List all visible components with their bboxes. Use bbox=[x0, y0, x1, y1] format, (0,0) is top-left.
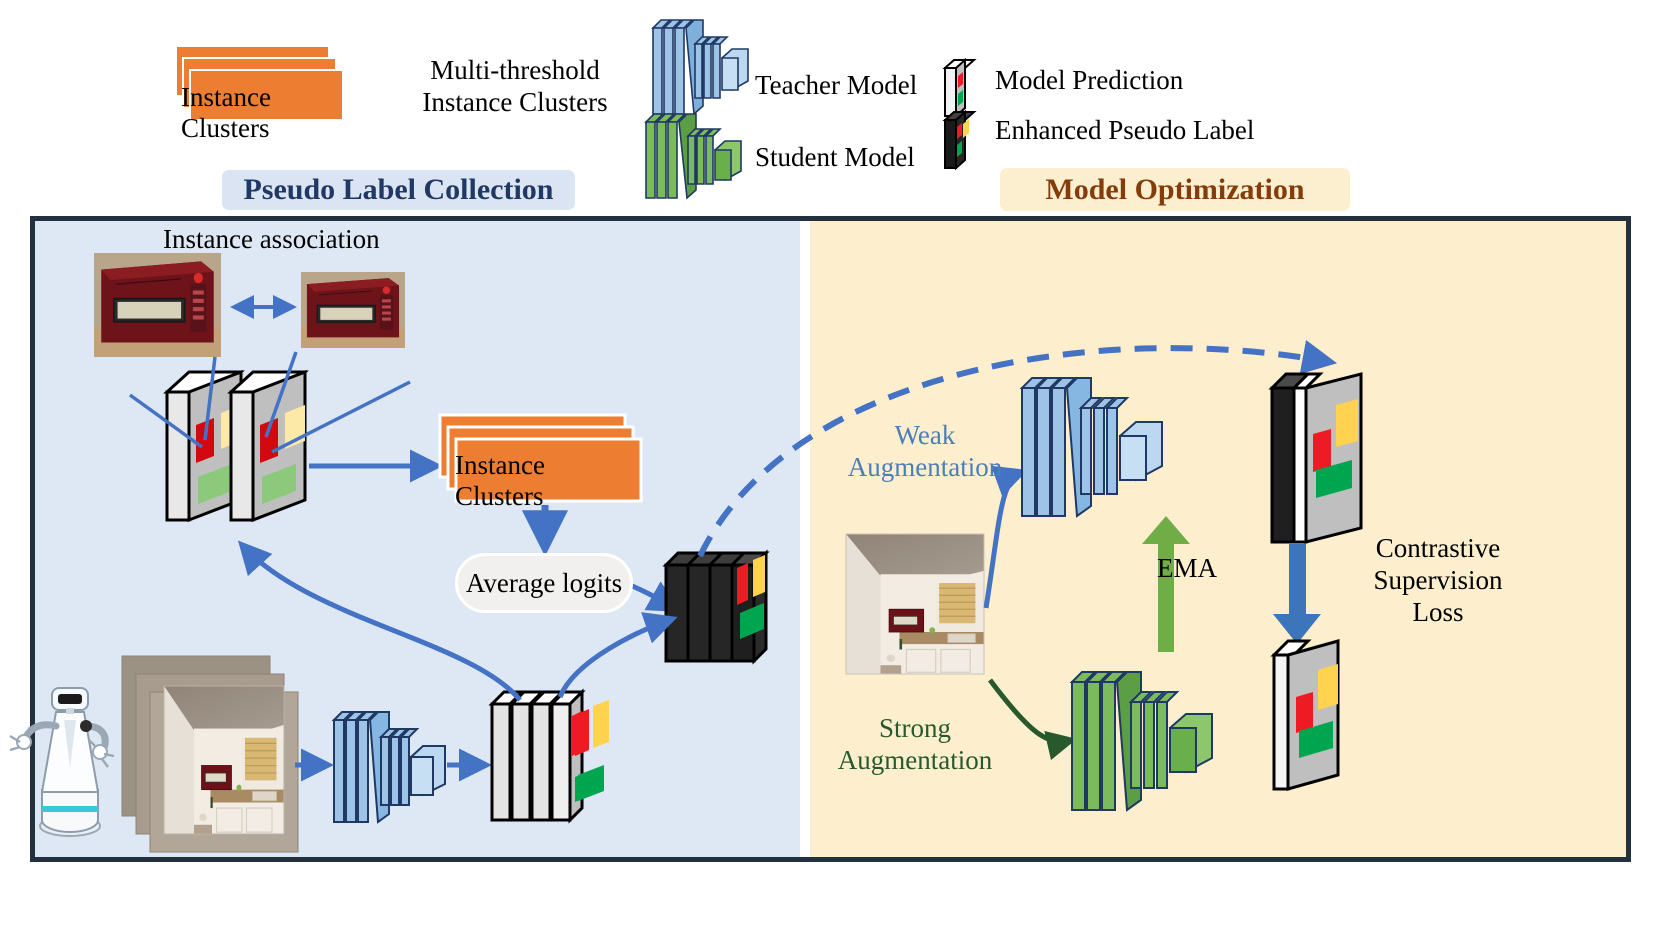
legend-green-cnn-icon bbox=[646, 114, 741, 198]
banner-pseudo-label-collection: Pseudo Label Collection bbox=[222, 170, 575, 210]
banner-model-optimization: Model Optimization bbox=[1000, 168, 1350, 211]
average-logits-pill: Average logits bbox=[455, 553, 633, 613]
legend-teacher-model-label: Teacher Model bbox=[755, 70, 930, 102]
label-strong-augmentation: Strong Augmentation bbox=[820, 713, 1010, 777]
legend-multi-threshold-label: Multi-threshold Instance Clusters bbox=[400, 55, 630, 119]
legend-gray-prediction-icon bbox=[945, 60, 974, 116]
legend-enhanced-pseudo-label-label: Enhanced Pseudo Label bbox=[995, 115, 1325, 147]
legend-student-model-label: Student Model bbox=[755, 142, 930, 174]
legend-model-prediction-label: Model Prediction bbox=[995, 65, 1275, 97]
label-instance-clusters: Instance Clusters bbox=[455, 450, 640, 512]
label-ema: EMA bbox=[1152, 553, 1222, 585]
label-contrastive-supervision-loss: Contrastive Supervision Loss bbox=[1348, 533, 1528, 629]
label-weak-augmentation: Weak Augmentation bbox=[840, 420, 1010, 484]
legend-instance-clusters-inner-label: Instance Clusters bbox=[181, 82, 361, 144]
legend-black-pseudolabel-icon bbox=[945, 112, 974, 168]
label-instance-association: Instance association bbox=[163, 224, 413, 256]
legend-blue-cnn-icon bbox=[653, 20, 748, 114]
panel-pseudo-label-collection bbox=[35, 221, 800, 857]
